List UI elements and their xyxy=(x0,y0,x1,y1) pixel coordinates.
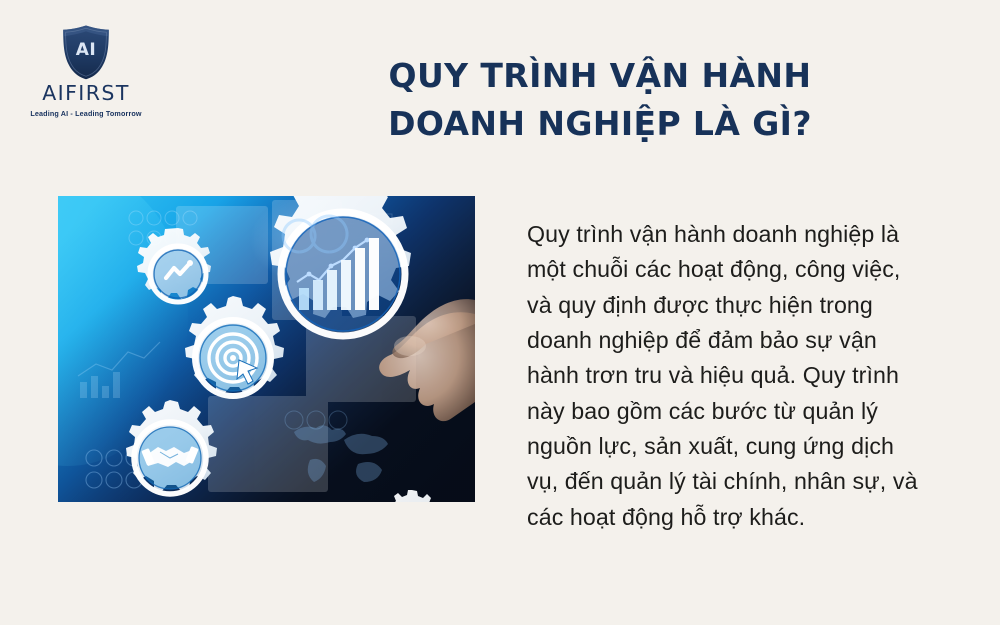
logo-tagline: Leading AI - Leading Tomorrow xyxy=(22,109,150,118)
page-title-line-1: QUY TRÌNH VẬN HÀNH xyxy=(300,52,900,100)
page-title-line-2: DOANH NGHIỆP LÀ GÌ? xyxy=(300,100,900,148)
brand-logo: AI AIFIRST Leading AI - Leading Tomorrow xyxy=(22,24,150,118)
hero-image: Name Purpose CTIME 0 items xyxy=(58,196,475,502)
svg-text:AI: AI xyxy=(76,40,96,60)
page-title: QUY TRÌNH VẬN HÀNH DOANH NGHIỆP LÀ GÌ? xyxy=(300,52,900,148)
logo-wordmark: AIFIRST xyxy=(22,83,150,105)
shield-icon: AI xyxy=(60,24,112,80)
body-paragraph: Quy trình vận hành doanh nghiệp là một c… xyxy=(527,217,927,535)
